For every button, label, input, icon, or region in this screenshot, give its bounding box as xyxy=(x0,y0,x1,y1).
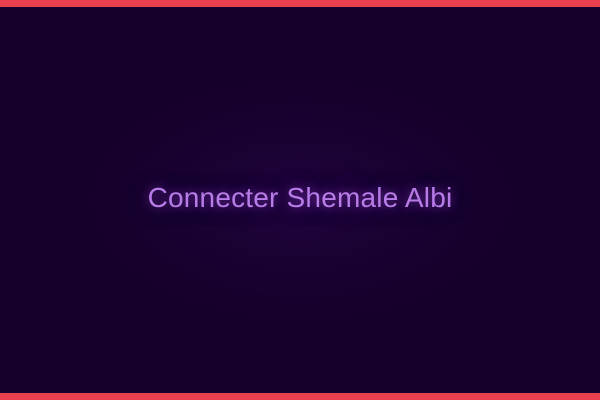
bottom-accent-band xyxy=(0,393,600,400)
headline-container: Connecter Shemale Albi xyxy=(0,0,600,400)
page-title: Connecter Shemale Albi xyxy=(148,181,453,215)
placeholder-banner: Connecter Shemale Albi xyxy=(0,0,600,400)
